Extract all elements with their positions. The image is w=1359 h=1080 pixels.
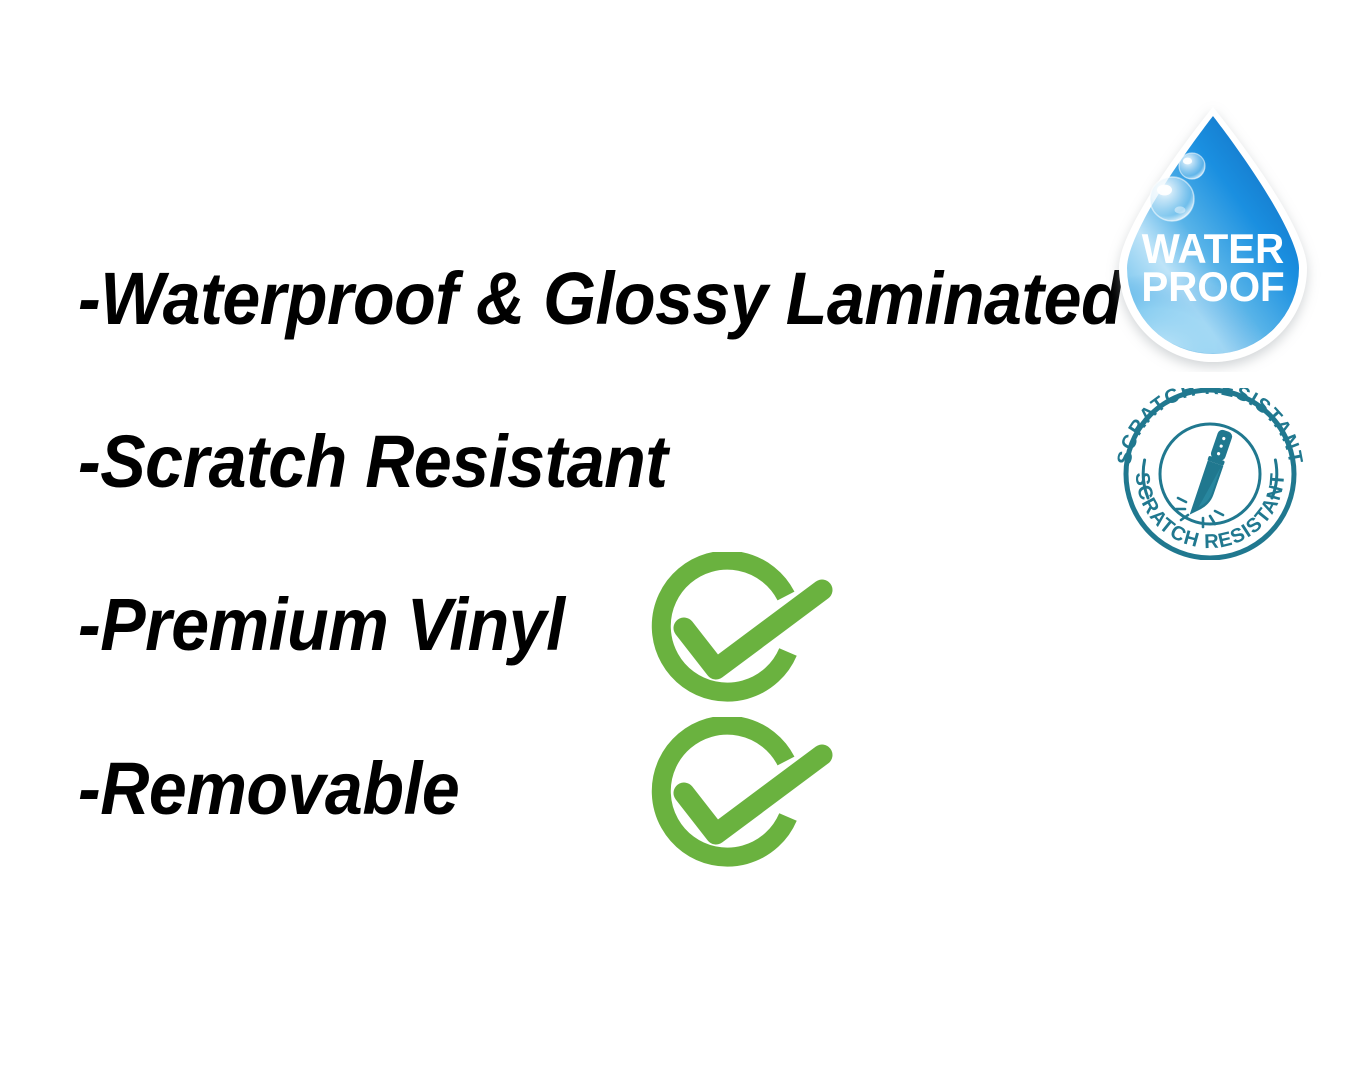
stamp-text-top: SCRATCH RESISTANT bbox=[1113, 388, 1306, 467]
feature-item-premium-vinyl: -Premium Vinyl bbox=[78, 588, 565, 662]
check-circle-icon bbox=[636, 717, 836, 877]
check-badge-premium-vinyl bbox=[636, 552, 836, 712]
waterproof-badge: WATER PROOF bbox=[1098, 100, 1328, 372]
feature-list: -Waterproof & Glossy Laminated -Scratch … bbox=[0, 0, 1100, 1080]
check-badge-removable bbox=[636, 717, 836, 877]
feature-item-waterproof: -Waterproof & Glossy Laminated bbox=[78, 262, 1122, 336]
check-mark bbox=[684, 590, 822, 669]
water-drop-icon bbox=[1098, 100, 1328, 372]
check-circle-icon bbox=[636, 552, 836, 712]
check-mark bbox=[684, 755, 822, 834]
bubble-icon-large bbox=[1150, 177, 1194, 221]
scratch-resistant-badge: SCRATCH RESISTANT SCRATCH RESISTANT bbox=[1108, 388, 1312, 560]
knife-stamp-icon: SCRATCH RESISTANT SCRATCH RESISTANT bbox=[1108, 388, 1312, 560]
feature-item-removable: -Removable bbox=[78, 752, 459, 826]
product-feature-graphic: -Waterproof & Glossy Laminated -Scratch … bbox=[0, 0, 1359, 1080]
feature-item-scratch-resistant: -Scratch Resistant bbox=[78, 425, 668, 499]
stamp-text-top-path: SCRATCH RESISTANT bbox=[1113, 388, 1306, 467]
bubble-icon-small bbox=[1179, 153, 1205, 179]
knife-icon bbox=[1189, 428, 1235, 520]
